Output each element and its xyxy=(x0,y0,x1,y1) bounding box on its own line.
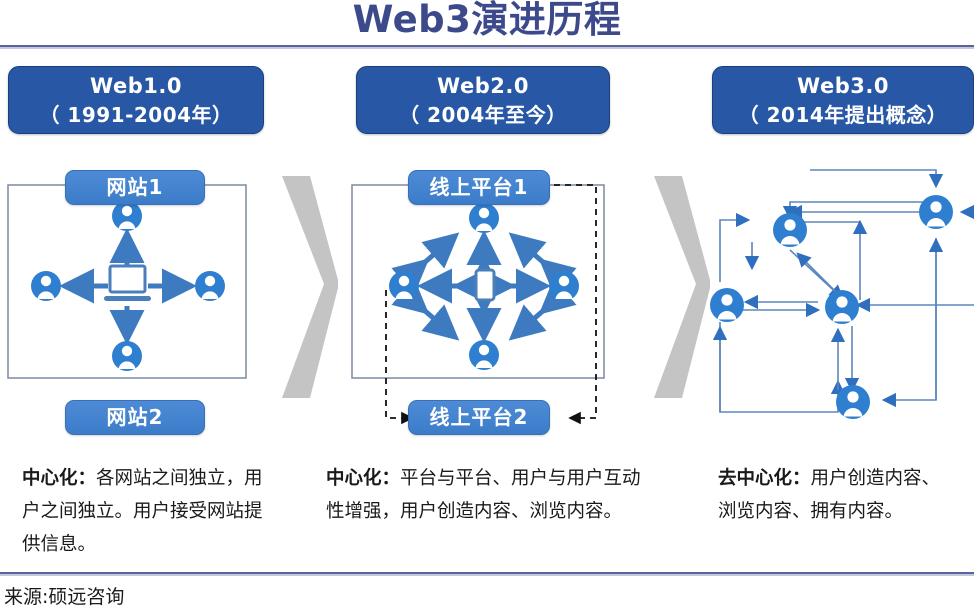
description-web1-label: 中心化： xyxy=(22,468,96,489)
stage-header-web3: Web3.0 （ 2014年提出概念） xyxy=(712,66,974,134)
diagram-web3 xyxy=(690,150,974,440)
slide-canvas: Web3演进历程 Web1.0 （ 1991-2004年） Web2.0 （ 2… xyxy=(0,0,974,616)
user-node xyxy=(549,271,579,301)
label-website-2: 网站2 xyxy=(65,400,205,435)
user-node xyxy=(112,341,142,371)
user-node xyxy=(919,195,953,229)
smartphone-icon xyxy=(476,270,494,300)
diagram-web2: 线上平台1 线上平台2 xyxy=(338,150,634,440)
user-node xyxy=(469,203,499,233)
stage-header-web1-line2: （ 1991-2004年） xyxy=(9,99,263,128)
user-node xyxy=(836,385,870,419)
description-web3: 去中心化：用户创造内容、浏览内容、拥有内容。 xyxy=(718,462,956,528)
description-web2: 中心化：平台与平台、用户与用户互动性增强，用户创造内容、浏览内容。 xyxy=(326,462,646,528)
user-node xyxy=(469,340,499,370)
label-platform-1: 线上平台1 xyxy=(408,170,550,205)
source-attribution: 来源:硕远咨询 xyxy=(4,582,124,609)
stage-header-web2-line2: （ 2004年至今） xyxy=(357,99,609,128)
user-node xyxy=(389,271,419,301)
footer-divider xyxy=(0,572,974,576)
user-node xyxy=(31,271,61,301)
stage-header-web3-line1: Web3.0 xyxy=(797,74,889,98)
laptop-icon xyxy=(104,266,151,301)
label-platform-2: 线上平台2 xyxy=(408,400,550,435)
stage-header-web1: Web1.0 （ 1991-2004年） xyxy=(8,66,264,134)
stage-header-web2: Web2.0 （ 2004年至今） xyxy=(356,66,610,134)
description-web2-label: 中心化： xyxy=(326,468,400,489)
user-node xyxy=(825,290,859,324)
user-node xyxy=(710,288,744,322)
description-web1: 中心化：各网站之间独立，用户之间独立。用户接受网站提供信息。 xyxy=(22,462,274,561)
user-node xyxy=(112,201,142,231)
label-website-1: 网站1 xyxy=(65,170,205,205)
diagram-web1: 网站1 网站2 xyxy=(0,150,280,440)
description-web3-label: 去中心化： xyxy=(718,468,811,489)
page-title: Web3演进历程 xyxy=(0,0,974,42)
title-divider xyxy=(0,45,974,49)
stage-header-web3-line2: （ 2014年提出概念） xyxy=(713,99,973,128)
stage-header-web1-line1: Web1.0 xyxy=(90,74,182,98)
user-node xyxy=(195,271,225,301)
diagram-web3-graphic xyxy=(690,150,974,440)
stage-header-web2-line1: Web2.0 xyxy=(437,74,529,98)
user-node xyxy=(773,213,807,247)
chevron-right-icon-1 xyxy=(276,176,338,398)
